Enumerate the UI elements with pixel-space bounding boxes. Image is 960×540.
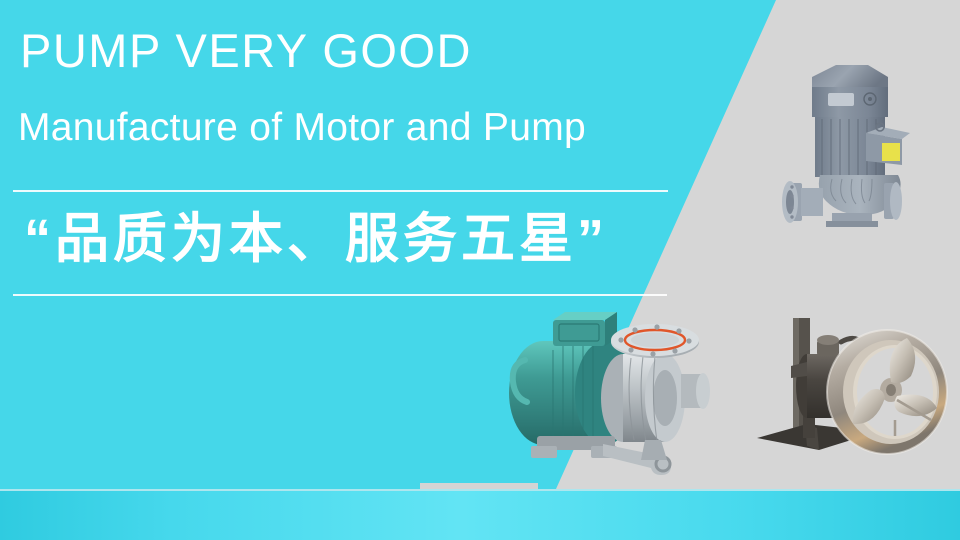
divider-bottom <box>13 294 667 296</box>
divider-top <box>13 190 668 192</box>
product-image-horizontal-centrifugal-pump <box>495 308 735 478</box>
product-image-vertical-inline-pump <box>770 55 935 235</box>
submersible-mixer-icon <box>745 300 960 470</box>
banner-slogan: “品质为本、服务五星” <box>24 200 608 278</box>
horizontal-centrifugal-pump-icon <box>495 308 735 478</box>
product-image-submersible-mixer <box>745 300 960 470</box>
banner-title: PUMP VERY GOOD <box>20 27 472 74</box>
headline-block: PUMP VERY GOOD Manufacture of Motor and … <box>0 0 700 330</box>
hero-banner: PUMP VERY GOOD Manufacture of Motor and … <box>0 0 960 540</box>
banner-subtitle: Manufacture of Motor and Pump <box>18 108 586 147</box>
bottom-bar <box>0 491 960 540</box>
vertical-inline-pump-icon <box>770 55 935 235</box>
